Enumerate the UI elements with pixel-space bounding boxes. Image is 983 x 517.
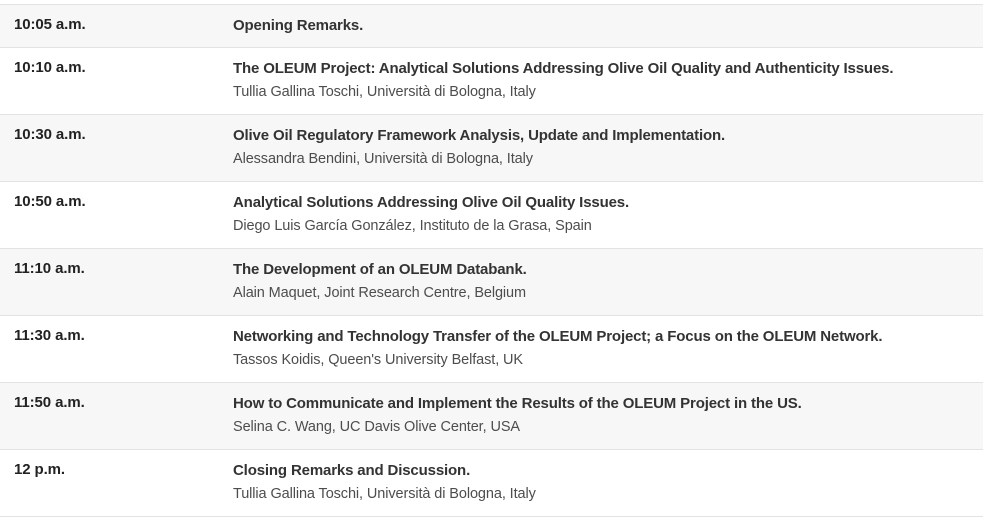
session-title: Opening Remarks. [233, 16, 971, 35]
session-time: 11:50 a.m. [14, 394, 233, 411]
schedule-row: 10:30 a.m.Olive Oil Regulatory Framework… [0, 115, 983, 182]
schedule-detail-cell: The Development of an OLEUM Databank.Ala… [233, 249, 983, 316]
schedule-time-cell: 10:30 a.m. [0, 115, 233, 182]
session-time: 10:50 a.m. [14, 193, 233, 210]
session-speaker: Tassos Koidis, Queen's University Belfas… [233, 346, 971, 370]
session-time: 11:30 a.m. [14, 327, 233, 344]
schedule-row: 11:10 a.m.The Development of an OLEUM Da… [0, 249, 983, 316]
session-title: The OLEUM Project: Analytical Solutions … [233, 59, 971, 78]
session-speaker: Selina C. Wang, UC Davis Olive Center, U… [233, 413, 971, 437]
session-speaker: Diego Luis García González, Instituto de… [233, 212, 971, 236]
session-speaker: Tullia Gallina Toschi, Università di Bol… [233, 78, 971, 102]
schedule-detail-cell: Analytical Solutions Addressing Olive Oi… [233, 182, 983, 249]
session-time: 10:10 a.m. [14, 59, 233, 76]
session-speaker: Alain Maquet, Joint Research Centre, Bel… [233, 279, 971, 303]
session-time: 12 p.m. [14, 461, 233, 478]
schedule-detail-cell: Networking and Technology Transfer of th… [233, 316, 983, 383]
session-title: Networking and Technology Transfer of th… [233, 327, 971, 346]
session-title: The Development of an OLEUM Databank. [233, 260, 971, 279]
schedule-row: 10:05 a.m.Opening Remarks. [0, 5, 983, 48]
schedule-time-cell: 11:10 a.m. [0, 249, 233, 316]
session-time: 10:05 a.m. [14, 16, 233, 33]
schedule-row: 11:50 a.m.How to Communicate and Impleme… [0, 383, 983, 450]
schedule-detail-cell: Olive Oil Regulatory Framework Analysis,… [233, 115, 983, 182]
session-title: Closing Remarks and Discussion. [233, 461, 971, 480]
schedule-time-cell: 10:50 a.m. [0, 182, 233, 249]
schedule-time-cell: 10:10 a.m. [0, 48, 233, 115]
schedule-row: 10:50 a.m.Analytical Solutions Addressin… [0, 182, 983, 249]
session-title: Analytical Solutions Addressing Olive Oi… [233, 193, 971, 212]
schedule-time-cell: 11:50 a.m. [0, 383, 233, 450]
schedule-row: 12 p.m.Closing Remarks and Discussion.Tu… [0, 450, 983, 517]
session-title: How to Communicate and Implement the Res… [233, 394, 971, 413]
schedule-row: 10:10 a.m.The OLEUM Project: Analytical … [0, 48, 983, 115]
session-schedule-table: 10:05 a.m.Opening Remarks.10:10 a.m.The … [0, 4, 983, 517]
schedule-detail-cell: How to Communicate and Implement the Res… [233, 383, 983, 450]
session-time: 11:10 a.m. [14, 260, 233, 277]
session-speaker: Alessandra Bendini, Università di Bologn… [233, 145, 971, 169]
schedule-row: 11:30 a.m.Networking and Technology Tran… [0, 316, 983, 383]
schedule-detail-cell: Opening Remarks. [233, 5, 983, 48]
schedule-time-cell: 10:05 a.m. [0, 5, 233, 48]
schedule-detail-cell: The OLEUM Project: Analytical Solutions … [233, 48, 983, 115]
session-speaker: Tullia Gallina Toschi, Università di Bol… [233, 480, 971, 504]
schedule-time-cell: 12 p.m. [0, 450, 233, 517]
schedule-body: 10:05 a.m.Opening Remarks.10:10 a.m.The … [0, 5, 983, 517]
schedule-time-cell: 11:30 a.m. [0, 316, 233, 383]
session-title: Olive Oil Regulatory Framework Analysis,… [233, 126, 971, 145]
schedule-detail-cell: Closing Remarks and Discussion.Tullia Ga… [233, 450, 983, 517]
session-time: 10:30 a.m. [14, 126, 233, 143]
